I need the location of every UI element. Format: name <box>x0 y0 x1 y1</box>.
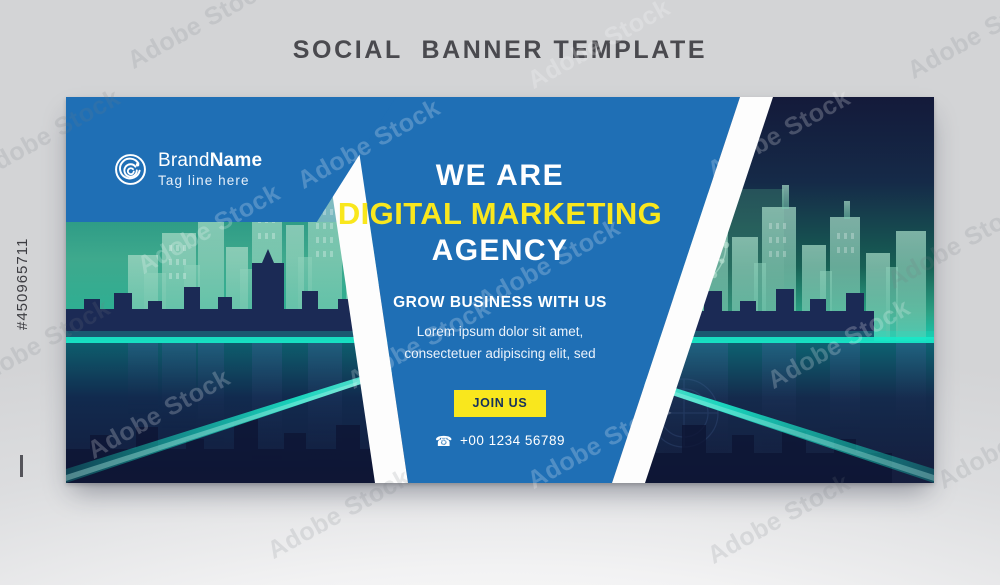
body-copy: Lorem ipsum dolor sit amet, consectetuer… <box>404 321 595 365</box>
phone-number: +00 1234 56789 <box>460 433 565 448</box>
telephone-icon: ☎ <box>435 434 453 448</box>
watermark-text: Adobe Stock <box>933 393 1000 495</box>
headline-line-3: AGENCY <box>432 234 569 269</box>
watermark-text: Adobe Stock <box>703 468 856 570</box>
page-background: SOCIAL BANNER TEMPLATE #450965711 <box>0 0 1000 585</box>
contact-row[interactable]: ☎ +00 1234 56789 <box>435 433 565 448</box>
asset-id-rule <box>20 455 23 477</box>
join-us-button[interactable]: JOIN US <box>454 390 547 417</box>
asset-id-label: #450965711 <box>14 238 31 330</box>
center-content: WE ARE DIGITAL MARKETING AGENCY GROW BUS… <box>66 97 934 483</box>
body-copy-line-2: consectetuer adipiscing elit, sed <box>404 343 595 365</box>
page-title: SOCIAL BANNER TEMPLATE <box>0 36 1000 65</box>
body-copy-line-1: Lorem ipsum dolor sit amet, <box>404 321 595 343</box>
headline-line-1: WE ARE <box>436 159 565 193</box>
headline-line-2: DIGITAL MARKETING <box>338 196 662 232</box>
social-banner: BrandName Tag line here WE ARE DIGITAL M… <box>66 97 934 483</box>
subheadline: GROW BUSINESS WITH US <box>393 294 607 312</box>
